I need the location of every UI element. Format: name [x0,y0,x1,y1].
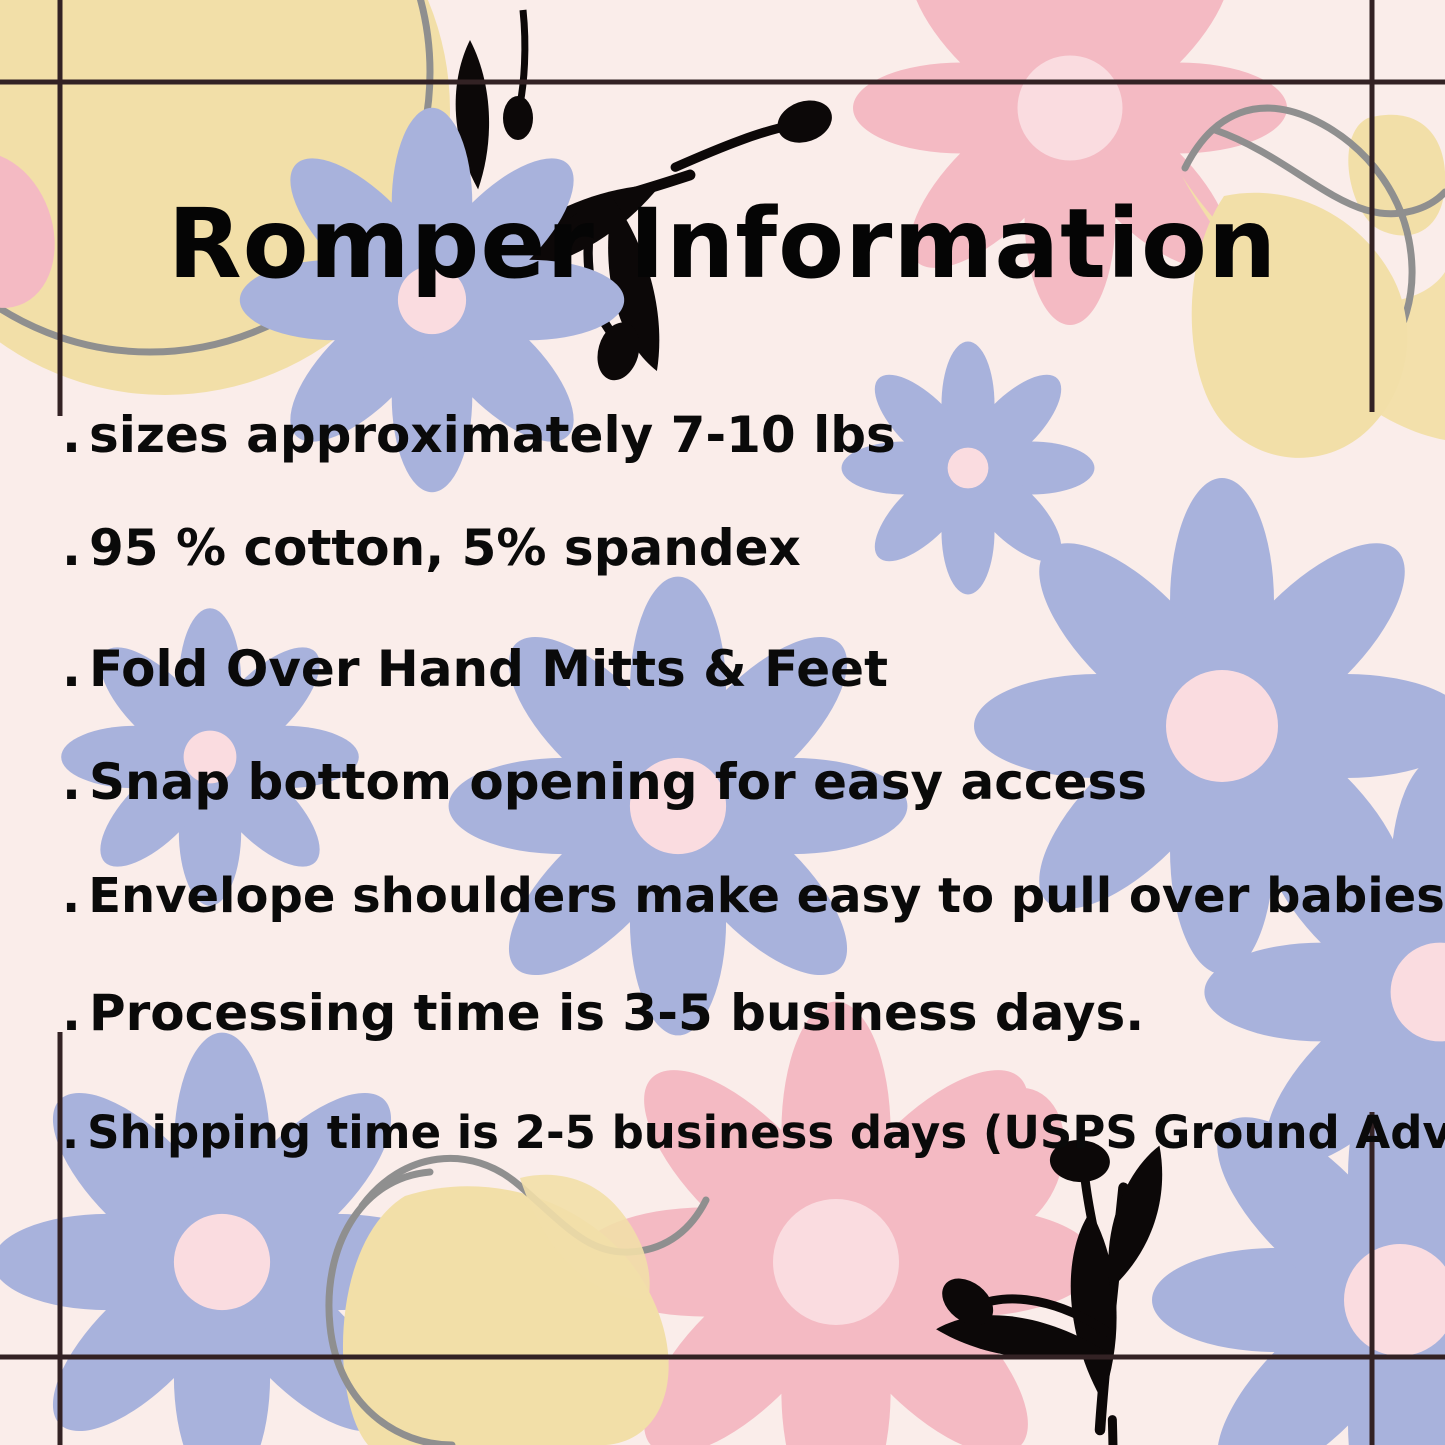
bullet-item: .Processing time is 3-5 business days. [62,988,1144,1038]
bullet-text: Shipping time is 2-5 business days (USPS… [87,1106,1445,1159]
bullet-text: sizes approximately 7-10 lbs [89,406,896,464]
bullet-marker: . [62,410,81,460]
bullet-item: .Envelope shoulders make easy to pull ov… [62,872,1445,920]
bullet-item: .Shipping time is 2-5 business days (USP… [62,1110,1445,1155]
bullet-text: 95 % cotton, 5% spandex [89,519,801,577]
bullet-marker: . [62,523,81,573]
bullet-item: .Snap bottom opening for easy access [62,757,1147,807]
bullet-item: .95 % cotton, 5% spandex [62,523,801,573]
bullet-text: Envelope shoulders make easy to pull ove… [88,868,1445,924]
bullet-item: .sizes approximately 7-10 lbs [62,410,896,460]
bullet-marker: . [62,1110,79,1155]
bullet-marker: . [62,644,81,694]
bullet-marker: . [62,988,81,1038]
bullet-text: Fold Over Hand Mitts & Feet [89,640,888,698]
bullet-marker: . [62,757,81,807]
bullet-marker: . [62,872,80,920]
page-title: Romper Information [0,196,1445,292]
bullet-item: .Fold Over Hand Mitts & Feet [62,644,888,694]
romper-information-graphic: Romper Information .sizes approximately … [0,0,1445,1445]
bullet-text: Snap bottom opening for easy access [89,753,1147,811]
bullet-text: Processing time is 3-5 business days. [89,984,1144,1042]
